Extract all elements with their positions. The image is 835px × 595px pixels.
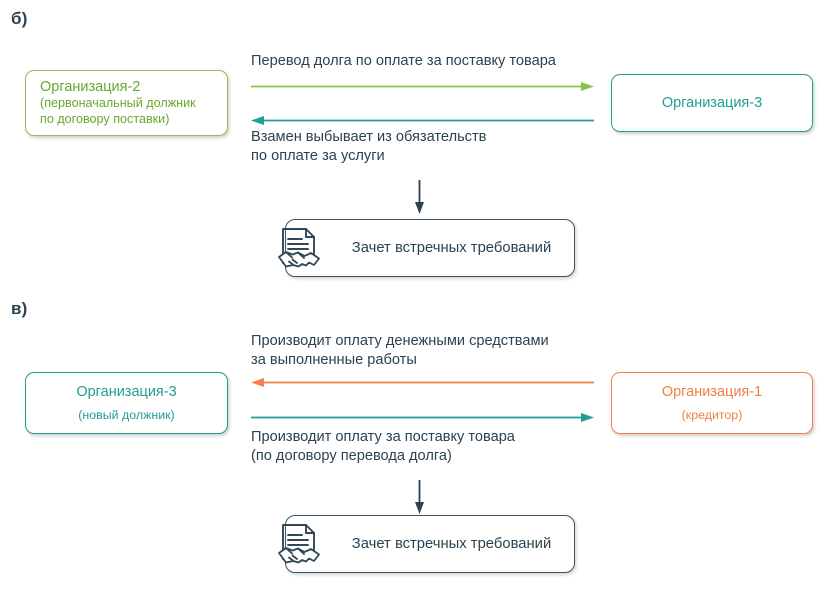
entity-box-line3: по договору поставки): [40, 112, 169, 128]
result-card-offset-v: Зачет встречных требований: [285, 515, 575, 573]
flow-label-transfer-of-debt: Перевод долга по оплате за поставку това…: [251, 52, 611, 71]
down-arrow-v: [413, 480, 426, 514]
entity-box-organization-1: Организация-1 (кредитор): [611, 372, 813, 434]
entity-box-line2: (кредитор): [682, 408, 743, 424]
entity-box-organization-3-bottom: Организация-3 (новый должник): [25, 372, 228, 434]
document-handshake-icon: [273, 519, 325, 571]
withdraw-obligation-arrow: [251, 115, 594, 126]
entity-box-line2: (новый должник): [78, 408, 174, 424]
entity-box-line1: Организация-1: [662, 383, 762, 401]
payment-for-goods-arrow: [251, 412, 594, 423]
entity-box-organization-2: Организация-2 (первоначальный должник по…: [25, 70, 228, 136]
entity-box-line1: Организация-3: [662, 94, 762, 112]
flow-label-payment-for-works: Производит оплату денежными средствами з…: [251, 332, 611, 371]
down-arrow-b: [413, 180, 426, 214]
transfer-of-debt-arrow: [251, 81, 594, 92]
result-card-offset-b: Зачет встречных требований: [285, 219, 575, 277]
flow-label-payment-for-goods: Производит оплату за поставку товара (по…: [251, 428, 611, 467]
entity-box-line2: (первоначальный должник: [40, 96, 196, 112]
flow-label-withdraw-obligation: Взамен выбывает из обязательств по оплат…: [251, 128, 611, 167]
payment-for-works-arrow: [251, 377, 594, 388]
entity-box-organization-3-top: Организация-3: [611, 74, 813, 132]
diagram-canvas: б) Организация-2 (первоначальный должник…: [0, 0, 835, 595]
result-card-text: Зачет встречных требований: [337, 516, 566, 572]
entity-box-line1: Организация-2: [40, 78, 140, 96]
result-card-text: Зачет встречных требований: [337, 220, 566, 276]
entity-box-line1: Организация-3: [76, 383, 176, 401]
section-label-v: в): [11, 299, 28, 319]
section-label-b: б): [11, 9, 28, 29]
document-handshake-icon: [273, 223, 325, 275]
